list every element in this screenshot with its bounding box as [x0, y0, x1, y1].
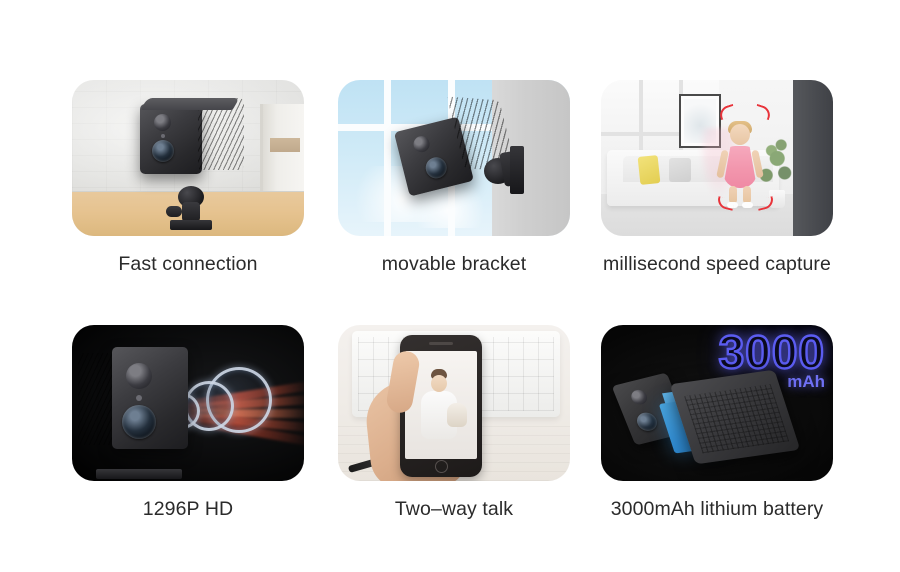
bracket-wall-plate	[510, 146, 524, 194]
camera-lens	[122, 405, 156, 439]
feature-caption: 1296P HD	[72, 497, 304, 521]
feature-caption: 3000mAh lithium battery	[601, 497, 833, 521]
bracket-arm	[182, 202, 200, 222]
feature-caption: millisecond speed capture	[601, 252, 833, 276]
battery-capacity-value: 3000	[719, 329, 825, 375]
feature-caption: Two–way talk	[338, 497, 570, 521]
cushion-yellow	[638, 155, 661, 185]
accent-wall	[793, 80, 833, 236]
door-frame	[260, 104, 304, 196]
camera-top-face	[141, 98, 240, 110]
tracking-bracket-top-right	[754, 104, 773, 120]
feature-card-3000mah-lithium-battery[interactable]: 3000 mAh 3000mAh lithium battery	[601, 325, 833, 521]
feature-image-millisecond-speed-capture	[601, 80, 833, 236]
camera-base	[96, 469, 182, 479]
camera-ir-sensor	[126, 363, 152, 389]
feature-caption: Fast connection	[72, 252, 304, 276]
feature-caption: movable bracket	[338, 252, 570, 276]
feature-image-two-way-talk	[338, 325, 570, 481]
feature-card-movable-bracket[interactable]: movable bracket	[338, 80, 570, 276]
camera-bracket	[164, 186, 220, 236]
mini-camera-unit	[78, 347, 188, 457]
child-subject	[719, 124, 761, 208]
camera-ir-sensor	[154, 114, 171, 131]
feature-image-3000mah-lithium-battery: 3000 mAh	[601, 325, 833, 481]
feature-image-movable-bracket	[338, 80, 570, 236]
status-led	[136, 395, 142, 401]
camera-vent-grid	[684, 384, 789, 453]
camera-lens	[152, 140, 174, 162]
child-shoe-right	[742, 202, 753, 208]
window-mullion-vertical	[384, 80, 391, 236]
feature-card-fast-connection[interactable]: Fast connection	[72, 80, 304, 276]
feature-card-millisecond-speed-capture[interactable]: millisecond speed capture	[601, 80, 833, 276]
feature-card-two-way-talk[interactable]: Two–way talk	[338, 325, 570, 521]
bracket-base-plate	[170, 220, 212, 230]
status-led	[161, 134, 165, 138]
bracket-knob	[166, 206, 182, 217]
feature-grid: Fast connection movable brac	[0, 0, 900, 572]
phone-earpiece	[429, 342, 453, 345]
camera-lens	[634, 411, 660, 433]
mini-camera-unit	[140, 96, 244, 192]
camera-vent-side	[78, 353, 116, 445]
camera-bracket	[480, 146, 540, 204]
feature-image-fast-connection	[72, 80, 304, 236]
camera-front-face	[140, 104, 202, 174]
video-child-head	[431, 375, 447, 392]
camera-ir-sensor	[629, 388, 649, 406]
cushion-grey	[669, 158, 691, 182]
door-panel	[270, 138, 300, 152]
child-head	[730, 124, 750, 145]
phone-home-button	[435, 460, 448, 473]
feature-image-1296p-hd	[72, 325, 304, 481]
video-dog	[447, 403, 467, 427]
feature-card-1296p-hd[interactable]: 1296P HD	[72, 325, 304, 521]
